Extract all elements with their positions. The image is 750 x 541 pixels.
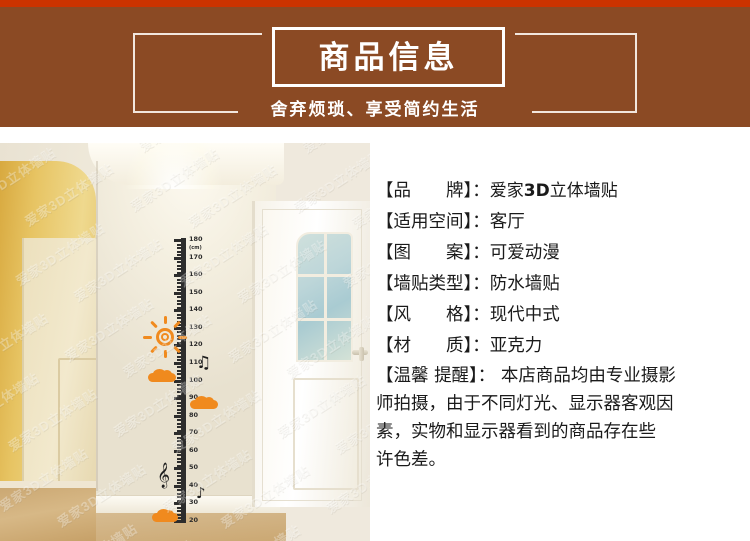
section-banner: 商品信息 舍弃烦琐、享受简约生活 — [0, 7, 750, 127]
spec-row: 【材 质】：亚克力 — [376, 331, 750, 362]
spec-row: 【图 案】：可爱动漫 — [376, 238, 750, 269]
notice-block: 【温馨 提醒】： 本店商品均由专业摄影师拍摄，由于不同灯光、显示器客观因素，实物… — [376, 362, 748, 474]
product-info-page: 商品信息 舍弃烦琐、享受简约生活 (cm) — [0, 0, 750, 541]
spec-row: 【墙贴类型】：防水墙贴 — [376, 269, 750, 300]
spec-value: 爱家3D立体墙贴 — [490, 181, 618, 201]
notice-line: 许色差。 — [376, 446, 748, 474]
spec-value: 亚克力 — [490, 336, 543, 356]
banner-title-box: 商品信息 — [272, 27, 505, 87]
notice-line: 【温馨 提醒】： 本店商品均由专业摄影 — [376, 362, 748, 390]
spec-rows: 【品 牌】：爱家3D立体墙贴【适用空间】：客厅【图 案】：可爱动漫【墙贴类型】：… — [376, 176, 750, 362]
top-accent-strip — [0, 0, 750, 7]
spec-key: 【墙贴类型】： — [376, 274, 490, 294]
photo-watermark: 爱家3D立体墙贴爱家3D立体墙贴爱家3D立体墙贴爱家3D立体墙贴爱家3D立体墙贴… — [0, 143, 370, 541]
product-photo[interactable]: (cm) 18017016015014013012011010090807060… — [0, 143, 370, 541]
spec-value: 防水墙贴 — [490, 274, 560, 294]
spec-row: 【品 牌】：爱家3D立体墙贴 — [376, 176, 750, 207]
spec-row: 【风 格】：现代中式 — [376, 300, 750, 331]
spec-value: 现代中式 — [490, 305, 560, 325]
banner-subtitle: 舍弃烦琐、享受简约生活 — [0, 95, 750, 120]
notice-line: 素，实物和显示器看到的商品存在些 — [376, 418, 748, 446]
spec-value: 可爱动漫 — [490, 243, 560, 263]
page-title: 商品信息 — [319, 42, 459, 73]
spec-row: 【适用空间】：客厅 — [376, 207, 750, 238]
spec-key: 【适用空间】： — [376, 212, 490, 232]
spec-key: 【风 格】： — [376, 305, 490, 325]
spec-key: 【品 牌】： — [376, 181, 490, 201]
spec-key: 【材 质】： — [376, 336, 490, 356]
spec-value: 客厅 — [490, 212, 525, 232]
spec-key: 【图 案】： — [376, 243, 490, 263]
spec-list: 【品 牌】：爱家3D立体墙贴【适用空间】：客厅【图 案】：可爱动漫【墙贴类型】：… — [376, 176, 750, 536]
notice-line: 师拍摄，由于不同灯光、显示器客观因 — [376, 390, 748, 418]
